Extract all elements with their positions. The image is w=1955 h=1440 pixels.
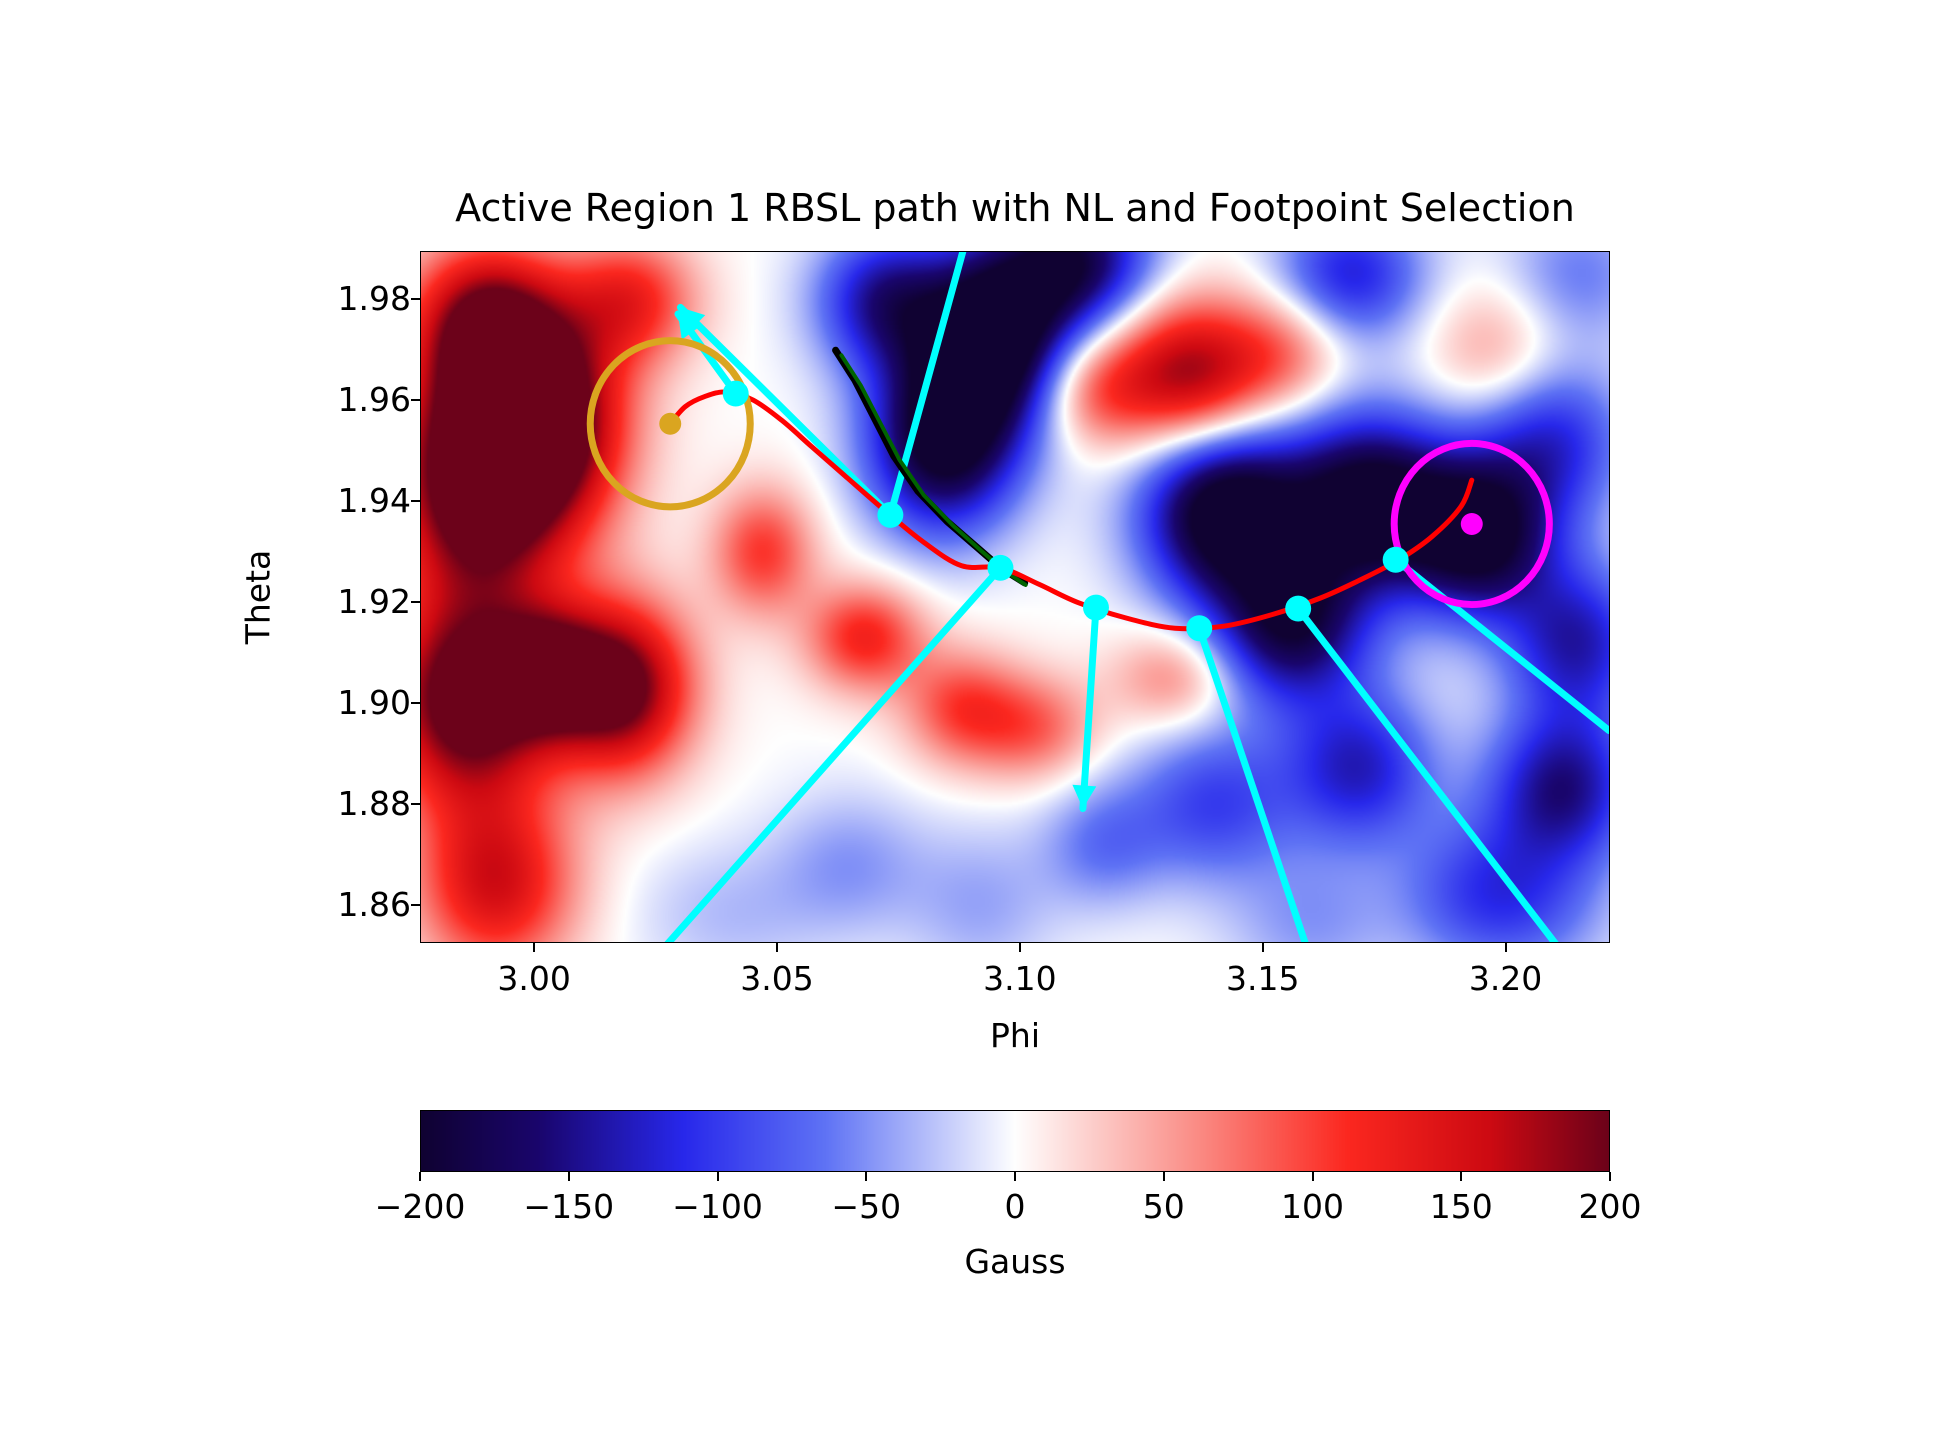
circle-goldenrod-center-dot: [659, 413, 681, 435]
x-tick-mark: [1262, 943, 1264, 952]
colorbar-label: Gauss: [964, 1242, 1065, 1281]
ray-mid-down: [890, 252, 964, 515]
colorbar: [420, 1110, 1610, 1172]
colorbar-tick-mark: [865, 1172, 867, 1181]
colorbar-tick-mark: [419, 1172, 421, 1181]
x-tick-label: 3.10: [983, 962, 1056, 995]
colorbar-tick-label: 50: [1143, 1190, 1185, 1223]
x-tick-mark: [1019, 943, 1021, 952]
colorbar-tick-label: −100: [672, 1190, 763, 1223]
y-tick-mark: [411, 500, 420, 502]
colorbar-tick-label: −150: [523, 1190, 614, 1223]
y-tick-mark: [411, 803, 420, 805]
colorbar-tick-label: −50: [831, 1190, 901, 1223]
colorbar-tick-label: −200: [375, 1190, 466, 1223]
footpoint-mid1[interactable]: [877, 502, 903, 528]
y-tick-label: 1.88: [338, 787, 411, 820]
footpoint-mid5[interactable]: [1285, 596, 1311, 622]
ray-left-down: [680, 307, 890, 515]
page-title: Active Region 1 RBSL path with NL and Fo…: [420, 186, 1610, 230]
x-axis-label: Phi: [990, 1016, 1040, 1055]
colorbar-tick-label: 0: [1005, 1190, 1026, 1223]
colorbar-tick-mark: [568, 1172, 570, 1181]
colorbar-tick-label: 200: [1579, 1190, 1642, 1223]
y-tick-label: 1.98: [338, 282, 411, 315]
colorbar-tick-label: 150: [1430, 1190, 1493, 1223]
colorbar-tick-mark: [1163, 1172, 1165, 1181]
magnetogram-plot-area: [420, 251, 1610, 943]
x-tick-label: 3.20: [1469, 962, 1542, 995]
ray-mid-up: [1083, 608, 1096, 809]
y-tick-mark: [411, 298, 420, 300]
y-tick-mark: [411, 399, 420, 401]
path-overlay: [421, 252, 1609, 942]
y-axis-label: Theta: [239, 550, 278, 645]
y-tick-label: 1.94: [338, 484, 411, 517]
y-tick-mark: [411, 601, 420, 603]
colorbar-tick-mark: [1609, 1172, 1611, 1181]
rbsl-path: [670, 392, 1472, 629]
colorbar-tick-mark: [717, 1172, 719, 1181]
x-tick-label: 3.00: [497, 962, 570, 995]
x-tick-mark: [1505, 943, 1507, 952]
ray-upper-right: [1298, 609, 1568, 942]
figure-canvas: Active Region 1 RBSL path with NL and Fo…: [0, 0, 1955, 1440]
x-tick-mark: [776, 943, 778, 952]
x-tick-label: 3.05: [740, 962, 813, 995]
ray-mid-up-arrowhead: [1072, 785, 1096, 809]
footpoint-mid4[interactable]: [1186, 615, 1212, 641]
x-tick-mark: [533, 943, 535, 952]
ray-right: [1396, 560, 1609, 731]
circle-magenta-center-dot: [1461, 513, 1483, 535]
colorbar-tick-mark: [1460, 1172, 1462, 1181]
colorbar-tick-mark: [1312, 1172, 1314, 1181]
footpoint-right[interactable]: [1383, 547, 1409, 573]
footpoint-mid2[interactable]: [987, 555, 1013, 581]
y-tick-label: 1.96: [338, 383, 411, 416]
ray-up-steep: [1199, 628, 1311, 942]
y-tick-label: 1.86: [338, 888, 411, 921]
y-tick-label: 1.92: [338, 585, 411, 618]
colorbar-tick-mark: [1014, 1172, 1016, 1181]
footpoint-mid3[interactable]: [1083, 595, 1109, 621]
x-tick-label: 3.15: [1226, 962, 1299, 995]
colorbar-gradient: [421, 1111, 1609, 1171]
footpoint-left[interactable]: [723, 381, 749, 407]
y-tick-label: 1.90: [338, 686, 411, 719]
y-tick-mark: [411, 904, 420, 906]
y-tick-mark: [411, 702, 420, 704]
colorbar-tick-label: 100: [1281, 1190, 1344, 1223]
ray-left-up: [657, 568, 1000, 942]
